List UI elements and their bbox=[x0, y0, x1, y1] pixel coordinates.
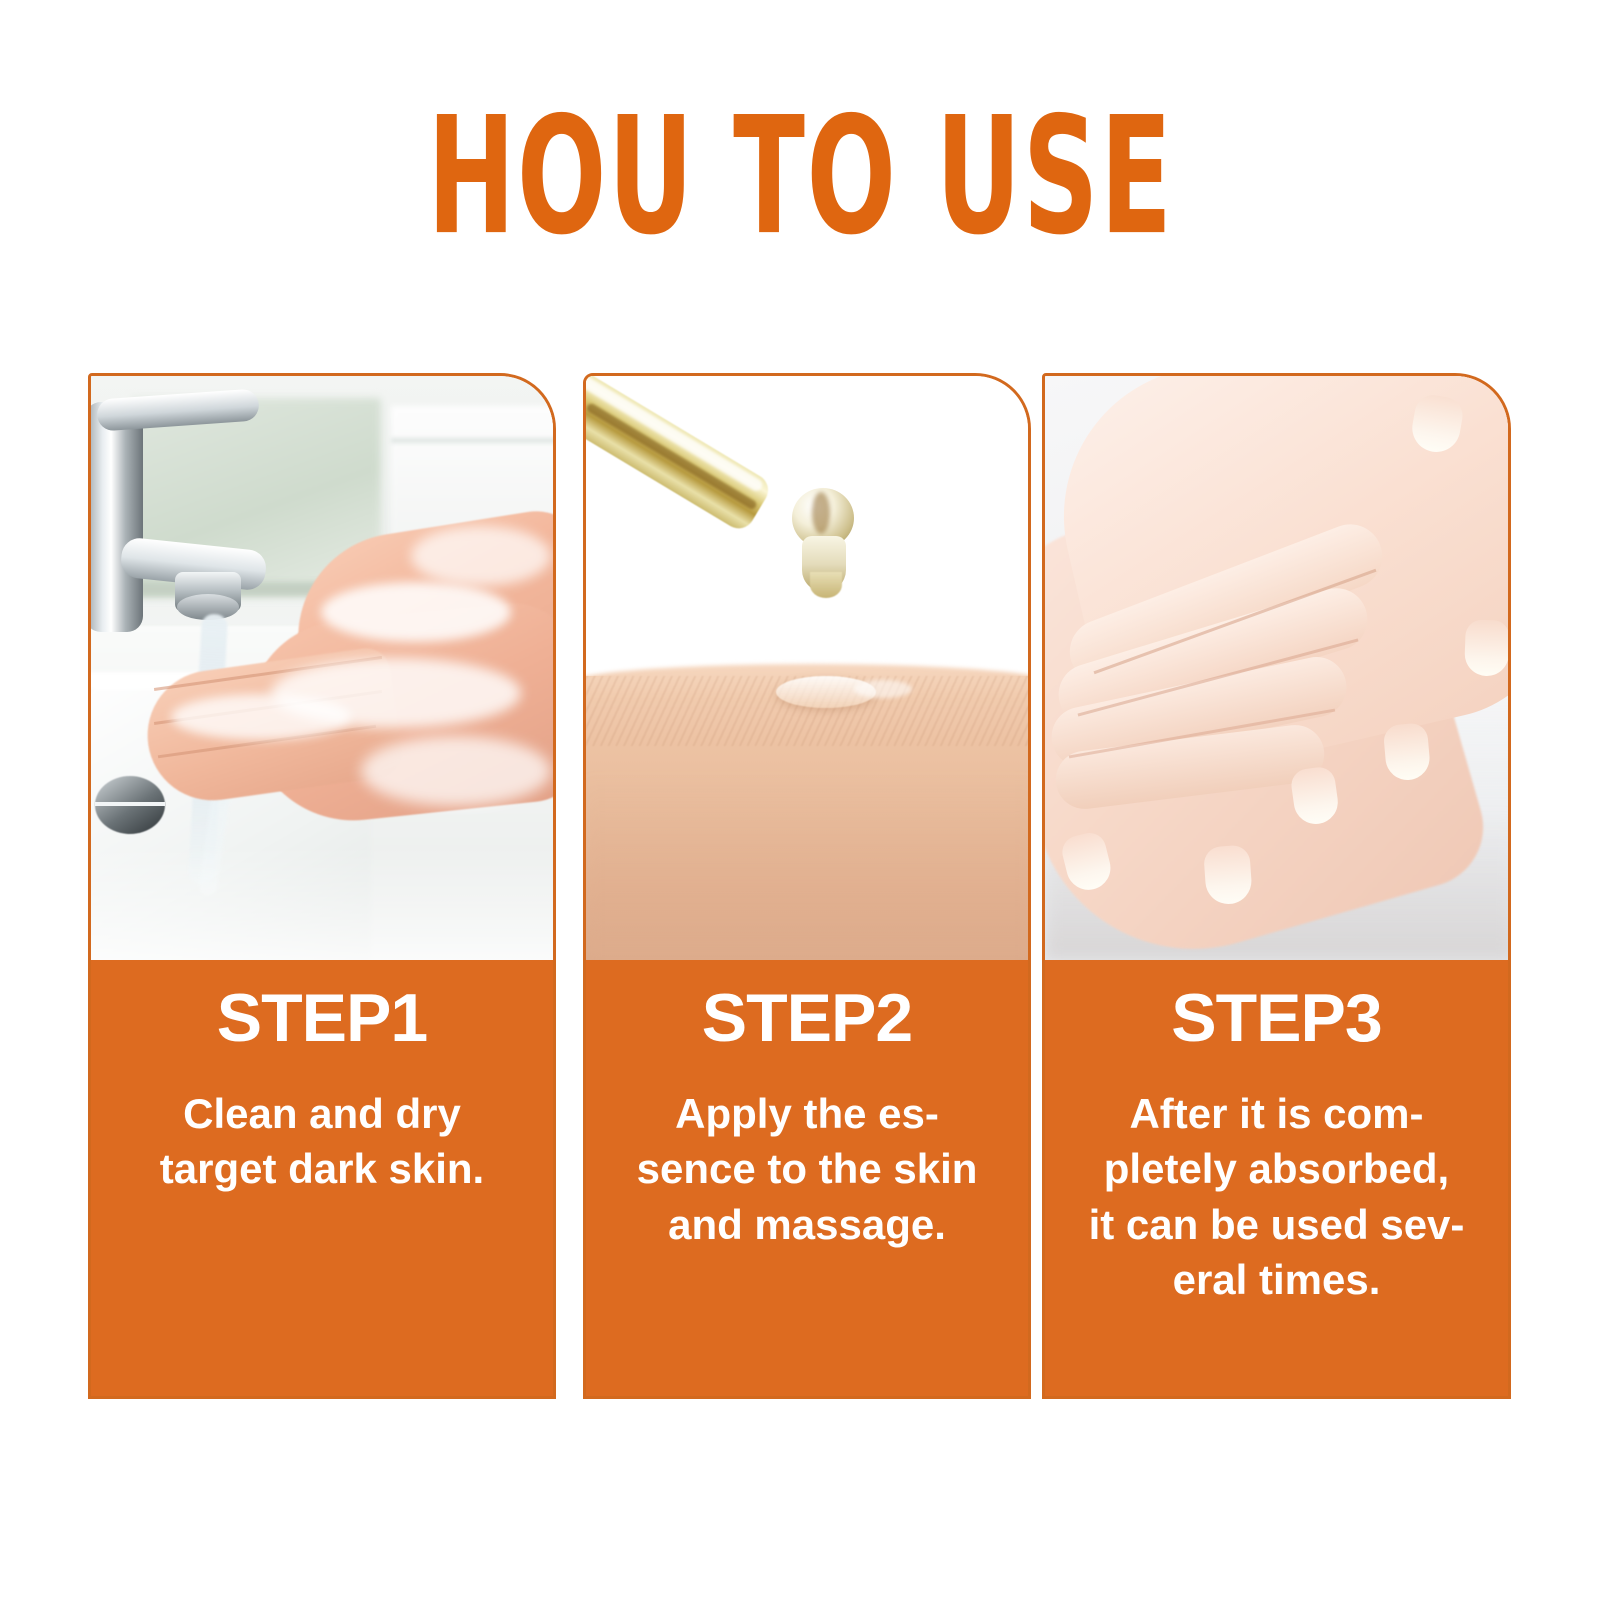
soap-foam-1 bbox=[321, 582, 511, 642]
page-title-container: HOU TO USE bbox=[0, 96, 1600, 246]
step-2-description: Apply the es- sence to the skin and mass… bbox=[586, 1086, 1028, 1252]
serum-droplet bbox=[810, 572, 842, 598]
serum-drop-spread bbox=[854, 680, 912, 698]
step-card-2: STEP2 Apply the es- sence to the skin an… bbox=[583, 373, 1031, 1399]
wall-trim bbox=[391, 438, 553, 443]
soap-foam-5 bbox=[411, 526, 551, 586]
pipette-tip-shadow bbox=[812, 492, 830, 534]
page-title: HOU TO USE bbox=[427, 96, 1173, 258]
step-2-heading: STEP2 bbox=[586, 984, 1028, 1052]
fingernail-3 bbox=[1464, 619, 1508, 677]
step-1-heading: STEP1 bbox=[91, 984, 553, 1052]
step-1-description: Clean and dry target dark skin. bbox=[91, 1086, 553, 1197]
skin-depth-blur bbox=[586, 776, 1028, 960]
faucet-body bbox=[91, 402, 143, 632]
step-2-image bbox=[586, 376, 1028, 960]
step-3-image bbox=[1045, 376, 1508, 960]
step-card-3: STEP3 After it is com- pletely absorbed,… bbox=[1042, 373, 1511, 1399]
soap-foam-3 bbox=[171, 694, 351, 740]
step-1-image bbox=[91, 376, 553, 960]
step-2-caption-panel: STEP2 Apply the es- sence to the skin an… bbox=[586, 960, 1028, 1396]
step-3-heading: STEP3 bbox=[1045, 984, 1508, 1052]
fingernail-6 bbox=[1203, 844, 1253, 905]
steps-row: STEP1 Clean and dry target dark skin. ST… bbox=[0, 373, 1600, 1399]
step-3-caption-panel: STEP3 After it is com- pletely absorbed,… bbox=[1045, 960, 1508, 1396]
photo-highlight bbox=[91, 846, 553, 960]
step-card-1: STEP1 Clean and dry target dark skin. bbox=[88, 373, 556, 1399]
step-3-description: After it is com- pletely absorbed, it ca… bbox=[1045, 1086, 1508, 1308]
soap-foam-4 bbox=[361, 736, 551, 806]
step-1-caption-panel: STEP1 Clean and dry target dark skin. bbox=[91, 960, 553, 1396]
sink-drain-slot bbox=[95, 802, 165, 806]
